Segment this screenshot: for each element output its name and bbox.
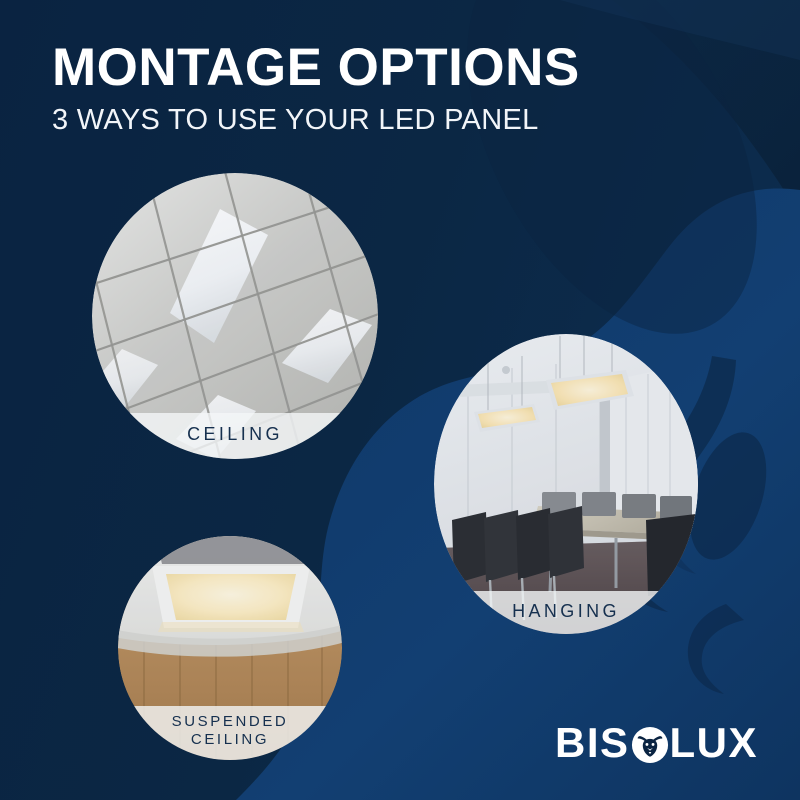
hanging-photo	[434, 334, 698, 634]
poster-canvas: MONTAGE OPTIONS 3 WAYS TO USE YOUR LED P…	[0, 0, 800, 800]
caption-line-1: CEILING	[187, 424, 283, 444]
caption-line-1: HANGING	[512, 601, 620, 621]
option-caption-ceiling: CEILING	[92, 413, 378, 460]
brand-text-before: BIS	[555, 722, 630, 764]
caption-line-1: SUSPENDED	[172, 713, 289, 730]
brand-logo[interactable]: BIS LUX	[555, 722, 758, 764]
page-subtitle: 3 WAYS TO USE YOUR LED PANEL	[52, 105, 732, 135]
caption-line-2: CEILING	[118, 731, 342, 750]
option-card-hanging[interactable]: HANGING	[434, 334, 698, 634]
option-card-suspended-ceiling[interactable]: SUSPENDED CEILING	[118, 536, 342, 760]
page-title: MONTAGE OPTIONS	[52, 40, 732, 95]
option-caption-hanging: HANGING	[434, 591, 698, 635]
option-caption-suspended-ceiling: SUSPENDED CEILING	[118, 706, 342, 761]
brand-text-after: LUX	[670, 722, 759, 764]
bull-head-icon	[631, 726, 669, 764]
option-card-ceiling[interactable]: CEILING	[92, 173, 378, 459]
header-block: MONTAGE OPTIONS 3 WAYS TO USE YOUR LED P…	[52, 40, 732, 136]
brand-wordmark: BIS LUX	[555, 722, 758, 764]
